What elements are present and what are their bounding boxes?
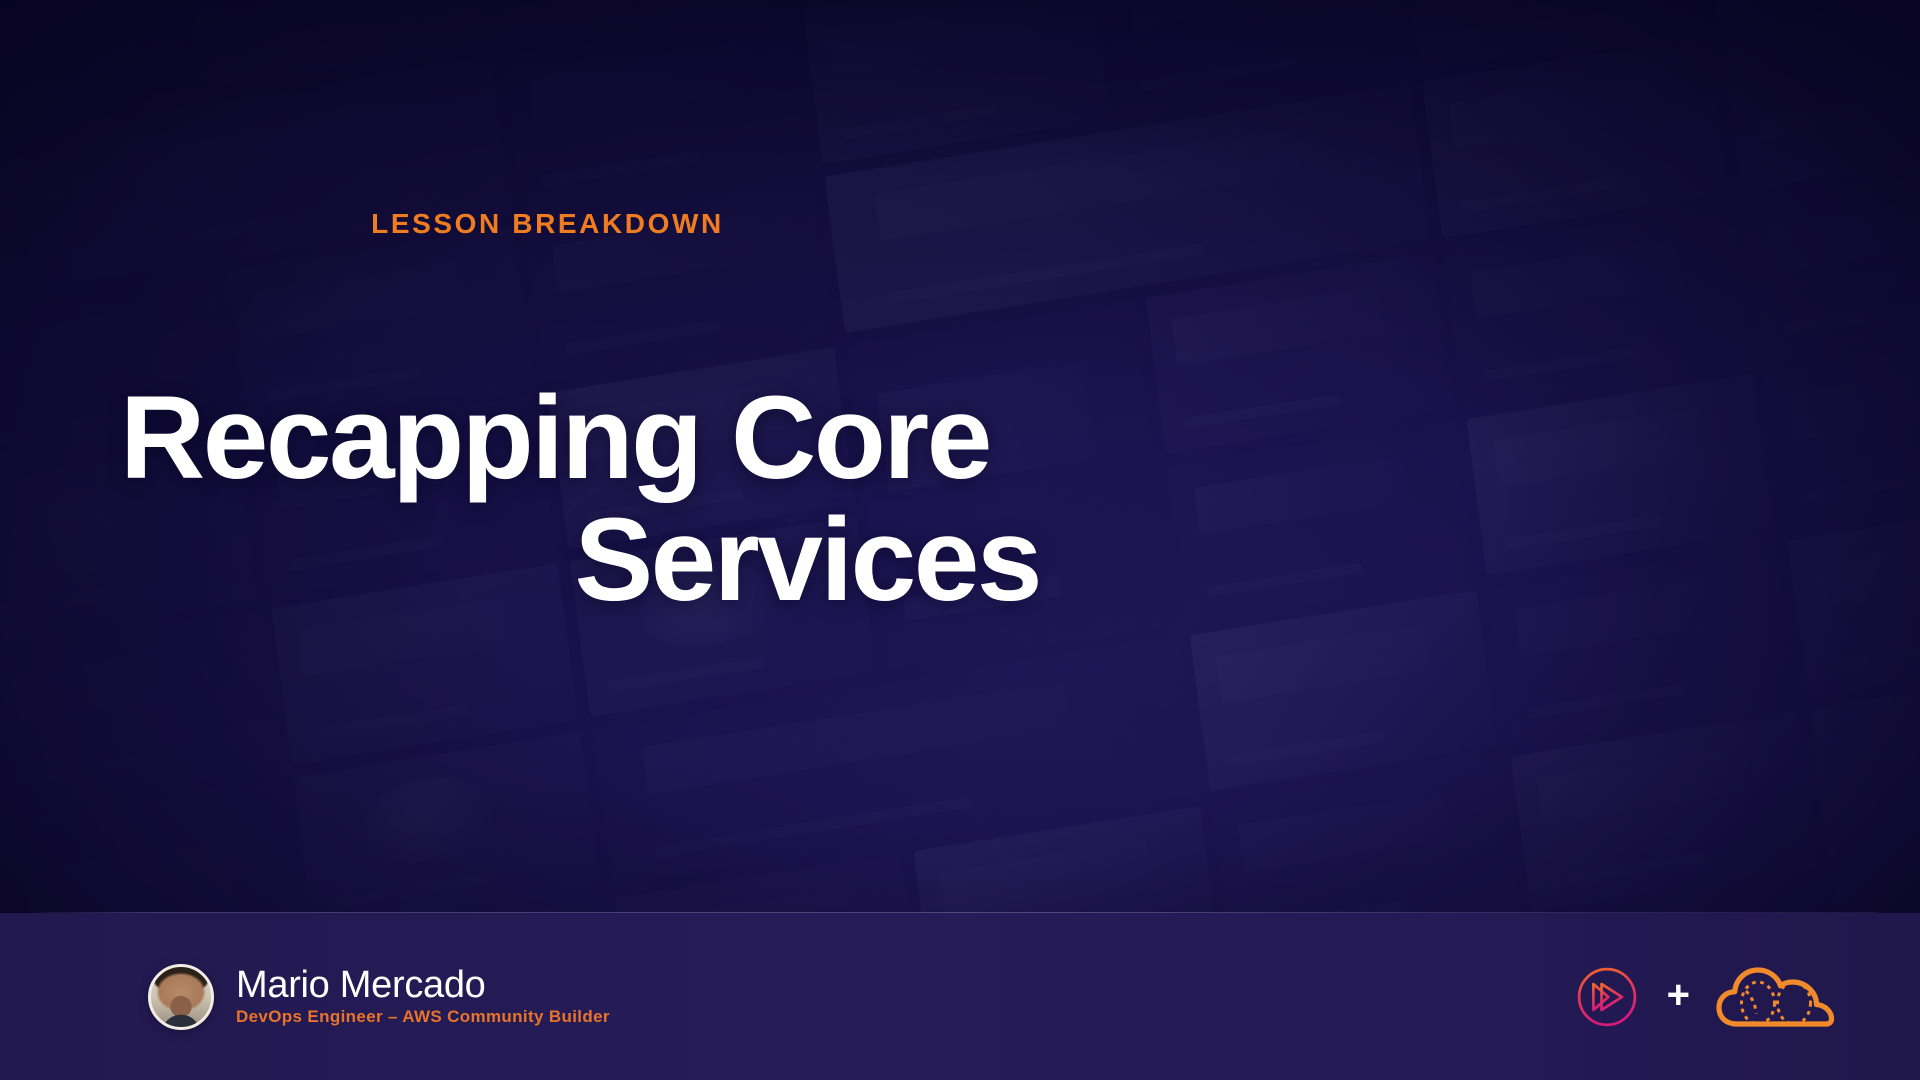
presenter-name: Mario Mercado (236, 966, 610, 1005)
brand-logos: + (1573, 961, 1872, 1033)
play-circle-logo-icon (1573, 963, 1641, 1031)
presentation-slide: LESSON BREAKDOWN Recapping Core Services… (0, 0, 1920, 1080)
title-line-1: Recapping Core (120, 378, 1040, 500)
brand-separator-plus-icon: + (1667, 975, 1690, 1015)
title-line-2: Services (120, 500, 1040, 622)
cloud-outline-logo-icon (1716, 961, 1836, 1033)
avatar (148, 964, 214, 1030)
page-title: Recapping Core Services (120, 378, 1040, 621)
presenter-text: Mario Mercado DevOps Engineer – AWS Comm… (236, 966, 610, 1028)
presenter-block: Mario Mercado DevOps Engineer – AWS Comm… (148, 964, 610, 1030)
presenter-role: DevOps Engineer – AWS Community Builder (236, 1007, 610, 1027)
eyebrow-label: LESSON BREAKDOWN (190, 208, 905, 240)
slide-content: LESSON BREAKDOWN Recapping Core Services (0, 0, 1920, 912)
slide-footer: Mario Mercado DevOps Engineer – AWS Comm… (0, 913, 1920, 1080)
